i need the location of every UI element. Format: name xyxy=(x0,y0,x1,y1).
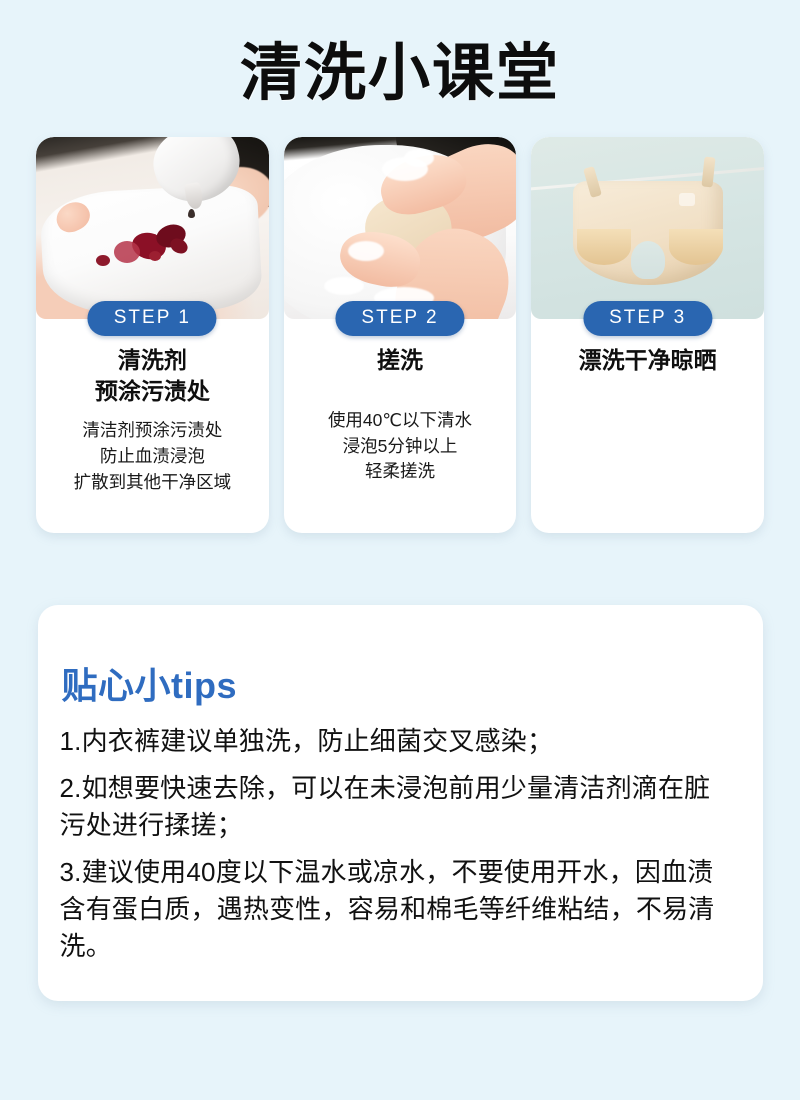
step-badge-2: STEP 2 xyxy=(335,301,464,336)
photo-tag-shape xyxy=(679,193,695,206)
tip-item-1: 1.内衣裤建议单独洗，防止细菌交叉感染； xyxy=(60,723,737,760)
photo-suds-shape xyxy=(404,149,434,167)
page-title: 清洗小课堂 xyxy=(0,0,800,109)
step-title-3: 漂洗干净晾晒 xyxy=(541,345,754,375)
tip-item-3: 3.建议使用40度以下温水或凉水，不要使用开水，因血渍含有蛋白质，遇热变性，容易… xyxy=(60,854,737,965)
tips-heading: 贴心小tips xyxy=(62,657,737,709)
step-title-1: 清洗剂 预涂污渍处 xyxy=(46,345,259,406)
tips-card: 贴心小tips 1.内衣裤建议单独洗，防止细菌交叉感染； 2.如想要快速去除，可… xyxy=(38,605,763,1001)
detergent-on-stained-garment-photo xyxy=(36,137,269,319)
step-desc-2: 使用40℃以下清水 浸泡5分钟以上 轻柔搓洗 xyxy=(294,408,507,486)
step-title-2: 搓洗 xyxy=(294,345,507,375)
step-badge-1: STEP 1 xyxy=(88,301,217,336)
step-desc-1: 清洁剂预涂污渍处 防止血渍浸泡 扩散到其他干净区域 xyxy=(46,418,259,496)
step-card-3[interactable]: STEP 3 漂洗干净晾晒 xyxy=(531,137,764,533)
photo-liquid-drop-shape xyxy=(188,209,195,218)
photo-gap-shape xyxy=(631,241,665,279)
step-badge-3: STEP 3 xyxy=(583,301,712,336)
tip-item-2: 2.如想要快速去除，可以在未浸泡前用少量清洁剂滴在脏污处进行揉搓； xyxy=(60,770,737,844)
hands-washing-in-basin-photo xyxy=(284,137,517,319)
step-body-2: 搓洗 使用40℃以下清水 浸泡5分钟以上 轻柔搓洗 xyxy=(284,319,517,533)
underwear-hanging-on-clothesline-photo xyxy=(531,137,764,319)
step-body-1: 清洗剂 预涂污渍处 清洁剂预涂污渍处 防止血渍浸泡 扩散到其他干净区域 xyxy=(36,319,269,533)
photo-suds-shape xyxy=(348,241,384,261)
step-body-3: 漂洗干净晾晒 xyxy=(531,319,764,533)
steps-row: STEP 1 清洗剂 预涂污渍处 清洁剂预涂污渍处 防止血渍浸泡 扩散到其他干净… xyxy=(0,137,800,533)
step-card-2[interactable]: STEP 2 搓洗 使用40℃以下清水 浸泡5分钟以上 轻柔搓洗 xyxy=(284,137,517,533)
step-card-1[interactable]: STEP 1 清洗剂 预涂污渍处 清洁剂预涂污渍处 防止血渍浸泡 扩散到其他干净… xyxy=(36,137,269,533)
